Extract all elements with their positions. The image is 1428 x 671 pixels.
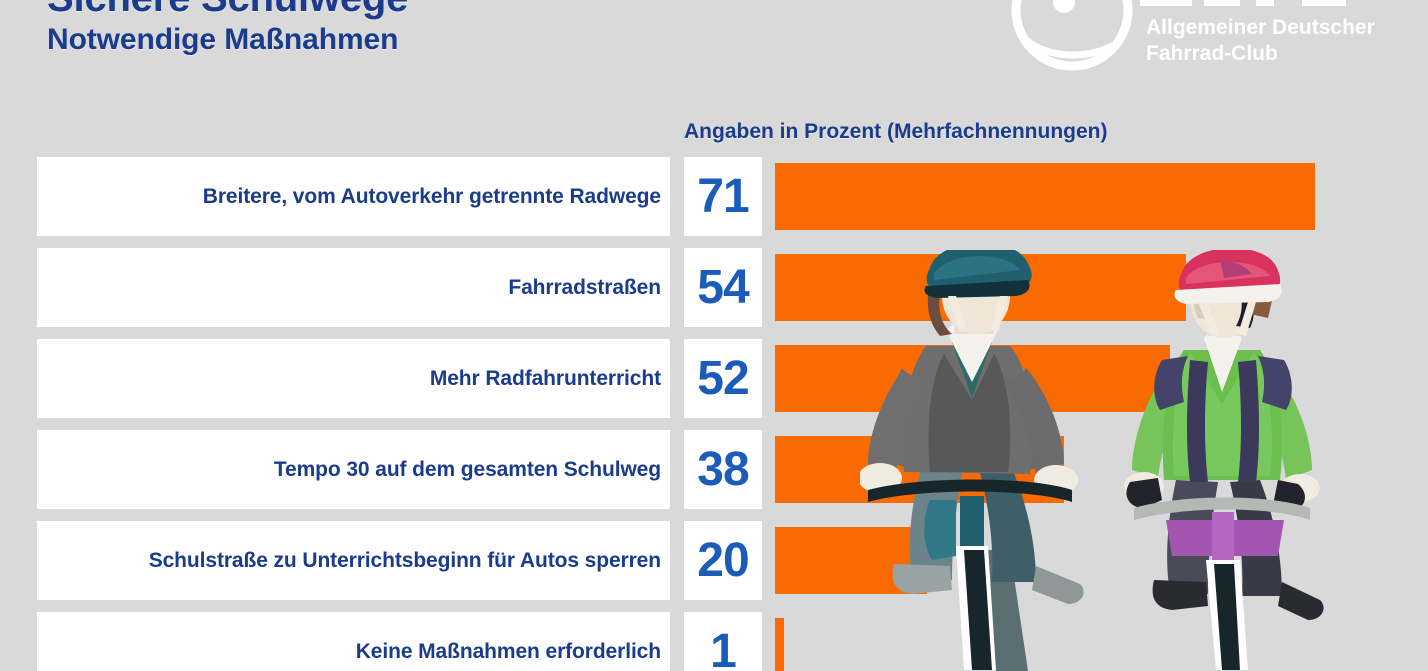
infographic-canvas: Breitere, vom Autoverkehr getrennte Radw… bbox=[0, 0, 1428, 671]
row-value: 52 bbox=[697, 355, 748, 403]
row-value-box: 38 bbox=[684, 430, 762, 509]
bar bbox=[775, 163, 1315, 230]
table-row: Schulstraße zu Unterrichtsbeginn für Aut… bbox=[0, 521, 1428, 600]
table-row: Fahrradstraßen 54 bbox=[0, 248, 1428, 327]
adfc-logo-line1: Allgemeiner Deutscher bbox=[1146, 16, 1375, 39]
bar bbox=[775, 618, 784, 671]
units-note: Angaben in Prozent (Mehrfachnennungen) bbox=[684, 120, 1108, 144]
row-label: Tempo 30 auf dem gesamten Schulweg bbox=[274, 458, 661, 482]
table-row: Mehr Radfahrunterricht 52 bbox=[0, 339, 1428, 418]
page-title: Sichere Schulwege bbox=[47, 0, 408, 20]
row-label-box: Mehr Radfahrunterricht bbox=[37, 339, 670, 418]
row-label: Breitere, vom Autoverkehr getrennte Radw… bbox=[203, 185, 661, 209]
adfc-logo-line2: Fahrrad-Club bbox=[1146, 42, 1278, 65]
row-value: 20 bbox=[697, 537, 748, 585]
row-value: 71 bbox=[697, 173, 748, 221]
row-value-box: 71 bbox=[684, 157, 762, 236]
row-value: 1 bbox=[710, 628, 736, 671]
row-value-box: 20 bbox=[684, 521, 762, 600]
bar bbox=[775, 345, 1170, 412]
bar-track bbox=[775, 618, 1415, 671]
page-subtitle: Notwendige Maßnahmen bbox=[47, 22, 408, 58]
row-label-box: Tempo 30 auf dem gesamten Schulweg bbox=[37, 430, 670, 509]
bar bbox=[775, 436, 1064, 503]
row-label-box: Schulstraße zu Unterrichtsbeginn für Aut… bbox=[37, 521, 670, 600]
row-value: 54 bbox=[697, 264, 748, 312]
row-value-box: 54 bbox=[684, 248, 762, 327]
row-label: Fahrradstraßen bbox=[508, 276, 661, 300]
row-label: Keine Maßnahmen erforderlich bbox=[356, 640, 661, 664]
bar-chart: Breitere, vom Autoverkehr getrennte Radw… bbox=[0, 0, 1428, 671]
row-label: Mehr Radfahrunterricht bbox=[430, 367, 661, 391]
bar bbox=[775, 527, 927, 594]
bar-track bbox=[775, 436, 1415, 503]
row-value-box: 52 bbox=[684, 339, 762, 418]
adfc-logo: Allgemeiner Deutscher Fahrrad-Club bbox=[990, 0, 1390, 82]
bar-track bbox=[775, 345, 1415, 412]
title-block: Sichere Schulwege Notwendige Maßnahmen bbox=[47, 0, 408, 58]
adfc-wheel-logo-icon bbox=[1016, 0, 1128, 66]
table-row: Breitere, vom Autoverkehr getrennte Radw… bbox=[0, 157, 1428, 236]
row-value: 38 bbox=[697, 446, 748, 494]
row-label-box: Keine Maßnahmen erforderlich bbox=[37, 612, 670, 671]
row-label-box: Breitere, vom Autoverkehr getrennte Radw… bbox=[37, 157, 670, 236]
row-label-box: Fahrradstraßen bbox=[37, 248, 670, 327]
row-label: Schulstraße zu Unterrichtsbeginn für Aut… bbox=[149, 549, 661, 573]
bar-track bbox=[775, 163, 1415, 230]
bar-track bbox=[775, 254, 1415, 321]
table-row: Keine Maßnahmen erforderlich 1 bbox=[0, 612, 1428, 671]
bar-track bbox=[775, 527, 1415, 594]
bar bbox=[775, 254, 1186, 321]
table-row: Tempo 30 auf dem gesamten Schulweg 38 bbox=[0, 430, 1428, 509]
adfc-wordmark-icon bbox=[1140, 0, 1346, 6]
row-value-box: 1 bbox=[684, 612, 762, 671]
